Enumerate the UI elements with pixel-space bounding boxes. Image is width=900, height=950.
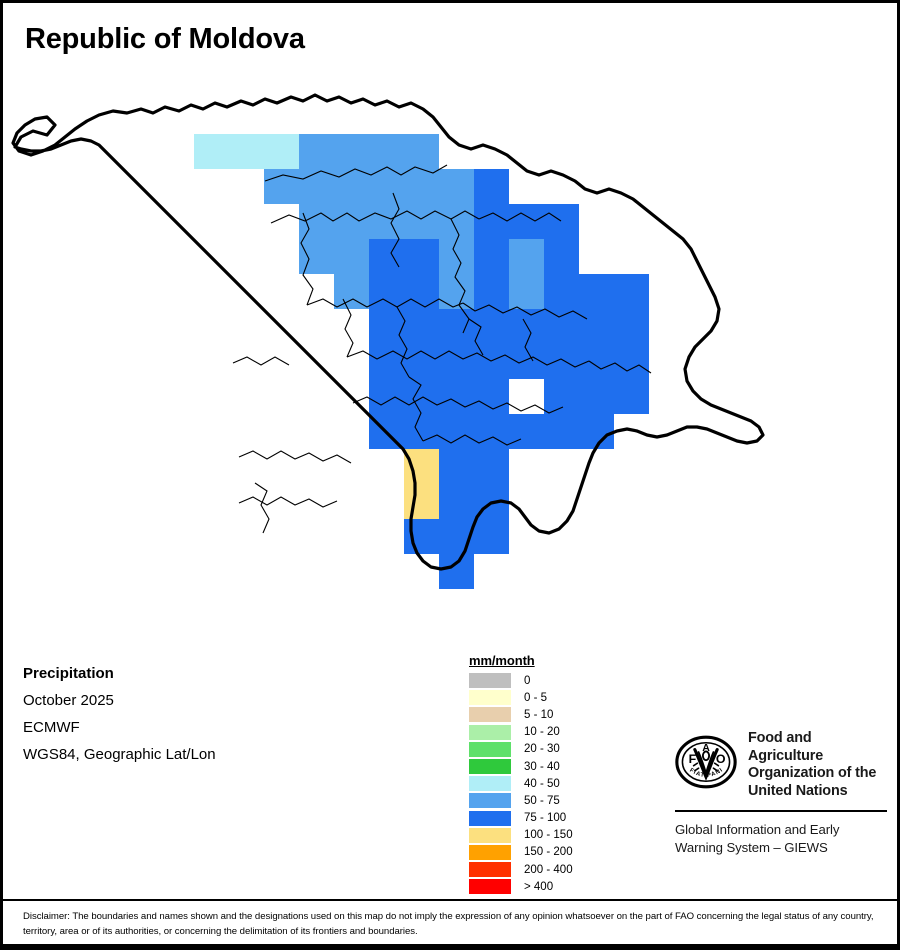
legend-swatch — [469, 707, 511, 722]
legend-row: 50 - 75 — [469, 792, 573, 809]
legend-swatch — [469, 776, 511, 791]
legend-swatch — [469, 879, 511, 894]
map-metadata: Precipitation October 2025 ECMWF WGS84, … — [23, 660, 353, 768]
legend-row: 40 - 50 — [469, 775, 573, 792]
legend-row: 75 - 100 — [469, 810, 573, 827]
legend-swatch — [469, 742, 511, 757]
giews-system-name: Global Information and Early Warning Sys… — [675, 821, 887, 856]
boundary-vector-layer — [3, 63, 897, 623]
legend-label: 0 — [524, 675, 530, 687]
fao-organization-name: Food and Agriculture Organization of the… — [748, 730, 887, 800]
svg-text:A: A — [702, 742, 710, 754]
legend-row: 5 - 10 — [469, 706, 573, 723]
moldova-boundaries-svg — [3, 63, 897, 623]
meta-projection: WGS84, Geographic Lat/Lon — [23, 741, 353, 768]
national-boundary — [13, 95, 763, 569]
legend-label: 5 - 10 — [524, 709, 553, 721]
admin-boundaries — [233, 165, 651, 533]
legend-swatch — [469, 793, 511, 808]
fao-logo-svg: F A O FIAT PANIS — [675, 731, 737, 793]
svg-text:O: O — [716, 752, 726, 766]
legend-row: 10 - 20 — [469, 724, 573, 741]
map-canvas[interactable] — [3, 63, 897, 623]
page-title: Republic of Moldova — [25, 23, 305, 56]
legend-label: > 400 — [524, 881, 553, 893]
legend-swatch — [469, 759, 511, 774]
bottom-border — [3, 944, 897, 947]
legend-row: 150 - 200 — [469, 844, 573, 861]
legend-label: 40 - 50 — [524, 778, 560, 790]
fao-attribution: F A O FIAT PANIS Food and Agriculture Or… — [675, 730, 887, 856]
legend-row: 0 — [469, 672, 573, 689]
legend-swatch — [469, 690, 511, 705]
legend-swatch — [469, 725, 511, 740]
legend-label: 200 - 400 — [524, 864, 573, 876]
map-legend: mm/month 00 - 55 - 1010 - 2020 - 3030 - … — [469, 653, 573, 895]
legend-swatch — [469, 828, 511, 843]
legend-label: 20 - 30 — [524, 743, 560, 755]
legend-swatch — [469, 845, 511, 860]
legend-label: 0 - 5 — [524, 692, 547, 704]
fao-logo-icon: F A O FIAT PANIS — [675, 731, 737, 793]
legend-label: 75 - 100 — [524, 812, 566, 824]
legend-label: 30 - 40 — [524, 761, 560, 773]
legend-row: 200 - 400 — [469, 861, 573, 878]
legend-label: 150 - 200 — [524, 846, 573, 858]
legend-row: 0 - 5 — [469, 689, 573, 706]
legend-row: 100 - 150 — [469, 827, 573, 844]
legend-label: 100 - 150 — [524, 829, 573, 841]
meta-variable: Precipitation — [23, 660, 353, 687]
meta-period: October 2025 — [23, 687, 353, 714]
legend-items: 00 - 55 - 1010 - 2020 - 3030 - 4040 - 50… — [469, 672, 573, 895]
meta-source: ECMWF — [23, 714, 353, 741]
legend-label: 50 - 75 — [524, 795, 560, 807]
legend-swatch — [469, 673, 511, 688]
legend-swatch — [469, 862, 511, 877]
disclaimer-divider — [3, 899, 897, 901]
disclaimer-text: Disclaimer: The boundaries and names sho… — [23, 909, 879, 939]
fao-divider — [675, 810, 887, 812]
legend-row: 30 - 40 — [469, 758, 573, 775]
legend-row: > 400 — [469, 878, 573, 895]
legend-title: mm/month — [469, 653, 573, 668]
map-page: Republic of Moldova — [0, 0, 900, 950]
legend-swatch — [469, 811, 511, 826]
svg-text:F: F — [689, 752, 697, 766]
legend-label: 10 - 20 — [524, 726, 560, 738]
legend-row: 20 - 30 — [469, 741, 573, 758]
